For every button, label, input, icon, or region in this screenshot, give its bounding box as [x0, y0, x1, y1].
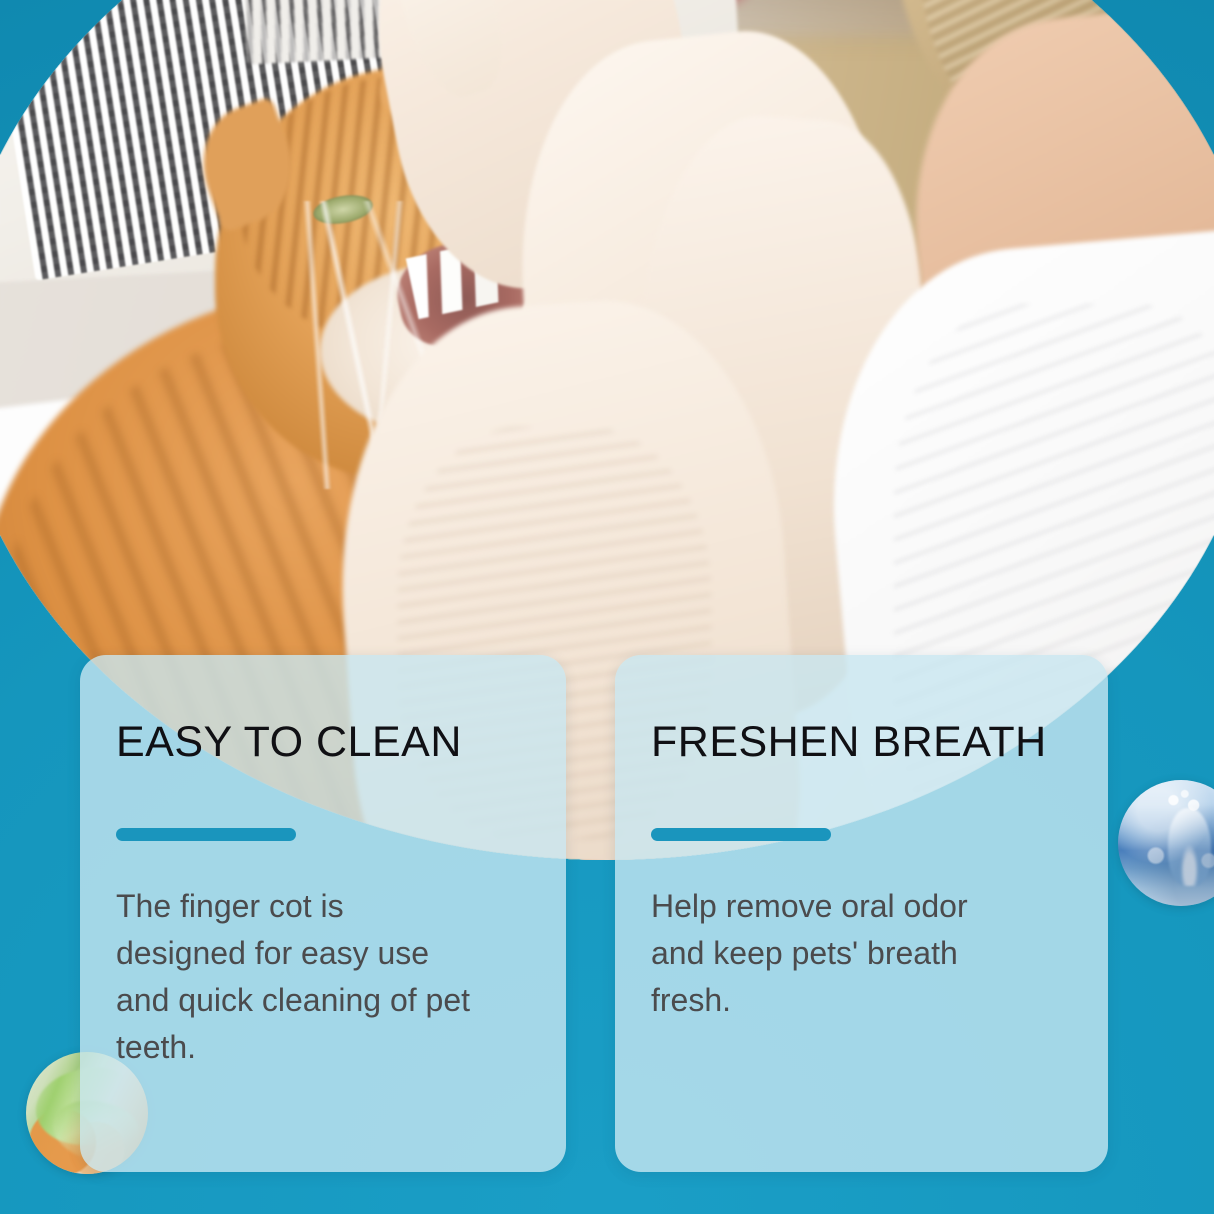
product-feature-banner: EASY TO CLEAN The finger cot is designed… [0, 0, 1214, 1214]
feature-card-description: The finger cot is designed for easy use … [116, 883, 471, 1071]
water-splash-badge [1118, 780, 1214, 906]
feature-card-accent-rule [651, 828, 831, 841]
water-sphere-gloss [1118, 780, 1214, 906]
feature-card-title: FRESHEN BREATH [651, 721, 1072, 764]
feature-card-content: FRESHEN BREATH Help remove oral odor and… [615, 655, 1108, 1172]
feature-card-title: EASY TO CLEAN [116, 721, 530, 764]
feature-card-content: EASY TO CLEAN The finger cot is designed… [80, 655, 566, 1172]
feature-card-accent-rule [116, 828, 296, 841]
feature-card-easy-to-clean: EASY TO CLEAN The finger cot is designed… [80, 655, 566, 1172]
feature-card-freshen-breath: FRESHEN BREATH Help remove oral odor and… [615, 655, 1108, 1172]
feature-card-description: Help remove oral odor and keep pets' bre… [651, 883, 1006, 1024]
